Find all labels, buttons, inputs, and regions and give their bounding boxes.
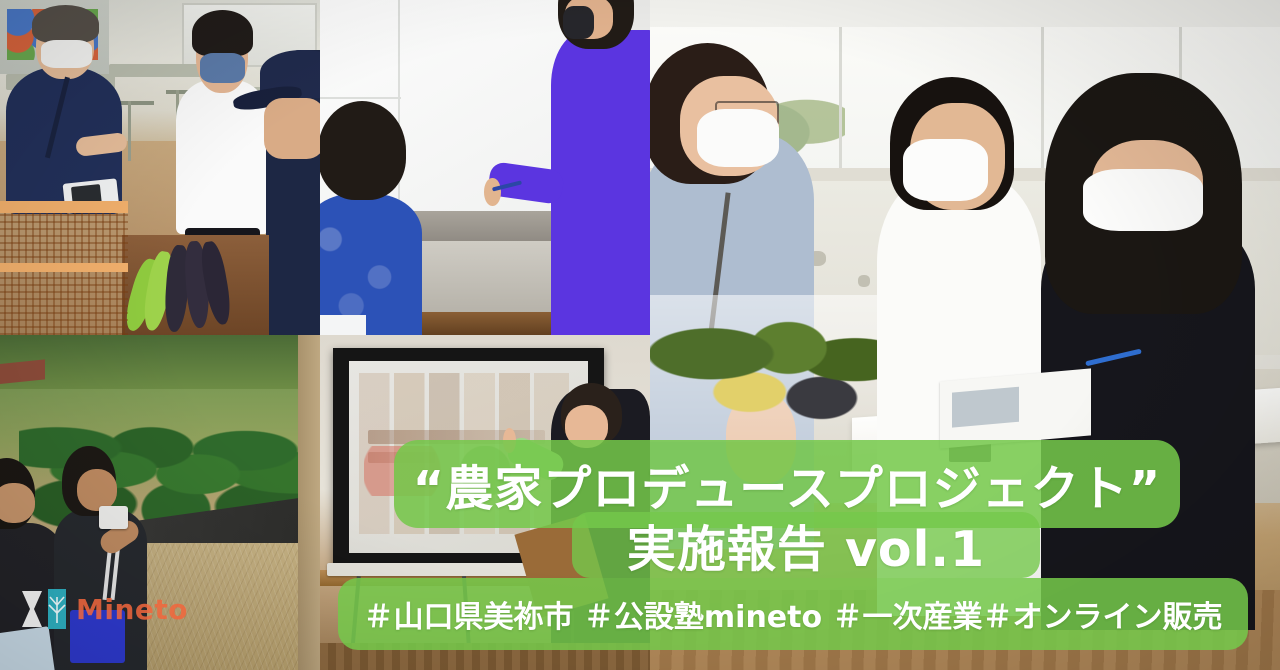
chair [118,101,153,105]
hand [484,178,501,206]
orange-produce-crate [0,201,128,335]
camera-device [99,506,128,529]
person-student-purple-jersey [551,30,650,335]
blue-shorts [70,610,124,664]
photo-panel-field-photography [0,335,320,670]
face [77,469,118,511]
photo-panel-whiteboard-planning [320,0,650,335]
scene-classroom [0,0,320,335]
person-student-seated [320,194,422,335]
window-frame [1041,27,1044,174]
wooden-post [298,335,320,670]
window-frame [839,27,842,174]
paper-sheet [320,315,366,335]
whiteboard-seam [398,0,400,218]
hair [32,5,99,43]
face-mask [903,139,988,201]
scene-eggplant-field [0,335,320,670]
hashtag-banner: ＃山口県美祢市 ＃公設塾mineto ＃一次産業＃オンライン販売 [338,578,1248,650]
printed-document [940,369,1091,449]
clipboard [0,626,54,670]
project-title: “農家プロデュースプロジェクト” [413,449,1162,519]
collage-hero-image: “農家プロデュースプロジェクト” 実施報告 vol.1 ＃山口県美祢市 ＃公設塾… [0,0,1280,670]
crate-rim [0,201,128,213]
face-mask [41,40,92,68]
arm [75,132,128,157]
crate-band [0,263,128,272]
bag-strap [45,76,70,157]
face-mask [200,53,245,84]
neck [264,98,320,158]
face-mask [563,6,594,40]
photo-panel-classroom-handover [0,0,320,335]
hair [192,10,253,56]
report-subtitle: 実施報告 vol.1 [627,510,985,581]
scene-whiteboard [320,0,650,335]
whiteboard-seam [320,97,401,99]
face [0,483,35,523]
subtitle-banner: 実施報告 vol.1 [572,512,1040,578]
face-mask [697,109,778,167]
chair-leg [128,101,131,161]
person-student-cap [266,50,320,335]
head [320,101,406,200]
hillside [0,335,320,389]
wall-chip [858,275,871,287]
face-mask [1083,169,1203,231]
hashtag-list: ＃山口県美祢市 ＃公設塾mineto ＃一次産業＃オンライン販売 [363,592,1222,636]
